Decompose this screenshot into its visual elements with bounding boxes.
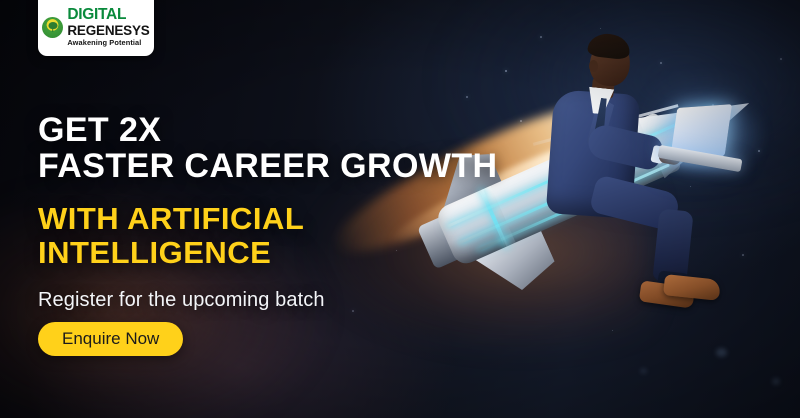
headline-block: GET 2X FASTER CAREER GROWTH WITH ARTIFIC… <box>38 112 508 312</box>
logo-wordmark: DIGITAL REGENESYS Awakening Potential <box>67 7 149 46</box>
headline-highlight-1: WITH ARTIFICIAL <box>38 202 508 235</box>
tree-emblem-icon <box>42 17 63 38</box>
promo-banner: DIGITAL REGENESYS Awakening Potential GE… <box>0 0 800 418</box>
headline-highlight-2: INTELLIGENCE <box>38 236 508 269</box>
logo-line-digital: DIGITAL <box>67 7 149 23</box>
headline-line-2: FASTER CAREER GROWTH <box>38 148 508 184</box>
logo: DIGITAL REGENESYS Awakening Potential <box>42 7 149 46</box>
logo-tagline: Awakening Potential <box>67 39 149 46</box>
enquire-now-button[interactable]: Enquire Now <box>38 322 183 356</box>
logo-line-regenesys: REGENESYS <box>67 24 149 38</box>
subtext: Register for the upcoming batch <box>38 289 508 312</box>
headline-line-1: GET 2X <box>38 112 508 148</box>
logo-card[interactable]: DIGITAL REGENESYS Awakening Potential <box>38 0 154 56</box>
